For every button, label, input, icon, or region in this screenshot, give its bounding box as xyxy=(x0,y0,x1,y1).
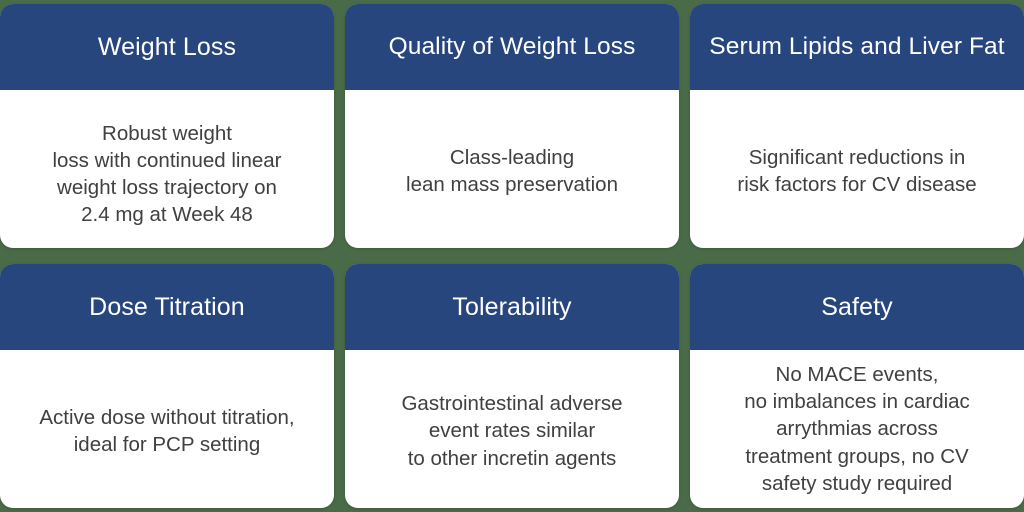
card-title-safety: Safety xyxy=(690,264,1024,350)
card-body-quality-of-weight-loss: Class-leading lean mass preservation xyxy=(345,90,679,248)
card-tolerability: Tolerability Gastrointestinal adverse ev… xyxy=(345,264,679,508)
card-weight-loss: Weight Loss Robust weight loss with cont… xyxy=(0,4,334,248)
card-serum-lipids-and-liver-fat: Serum Lipids and Liver Fat Significant r… xyxy=(690,4,1024,248)
card-body-safety: No MACE events, no imbalances in cardiac… xyxy=(690,350,1024,508)
card-title-weight-loss: Weight Loss xyxy=(0,4,334,90)
card-body-weight-loss: Robust weight loss with continued linear… xyxy=(0,90,334,248)
card-body-tolerability: Gastrointestinal adverse event rates sim… xyxy=(345,350,679,508)
card-quality-of-weight-loss: Quality of Weight Loss Class-leading lea… xyxy=(345,4,679,248)
card-body-dose-titration: Active dose without titration, ideal for… xyxy=(0,350,334,508)
card-safety: Safety No MACE events, no imbalances in … xyxy=(690,264,1024,508)
card-title-serum-lipids-and-liver-fat: Serum Lipids and Liver Fat xyxy=(690,4,1024,90)
card-body-serum-lipids-and-liver-fat: Significant reductions in risk factors f… xyxy=(690,90,1024,248)
feature-card-grid: Weight Loss Robust weight loss with cont… xyxy=(0,4,1024,508)
card-title-dose-titration: Dose Titration xyxy=(0,264,334,350)
card-dose-titration: Dose Titration Active dose without titra… xyxy=(0,264,334,508)
card-title-tolerability: Tolerability xyxy=(345,264,679,350)
card-title-quality-of-weight-loss: Quality of Weight Loss xyxy=(345,4,679,90)
